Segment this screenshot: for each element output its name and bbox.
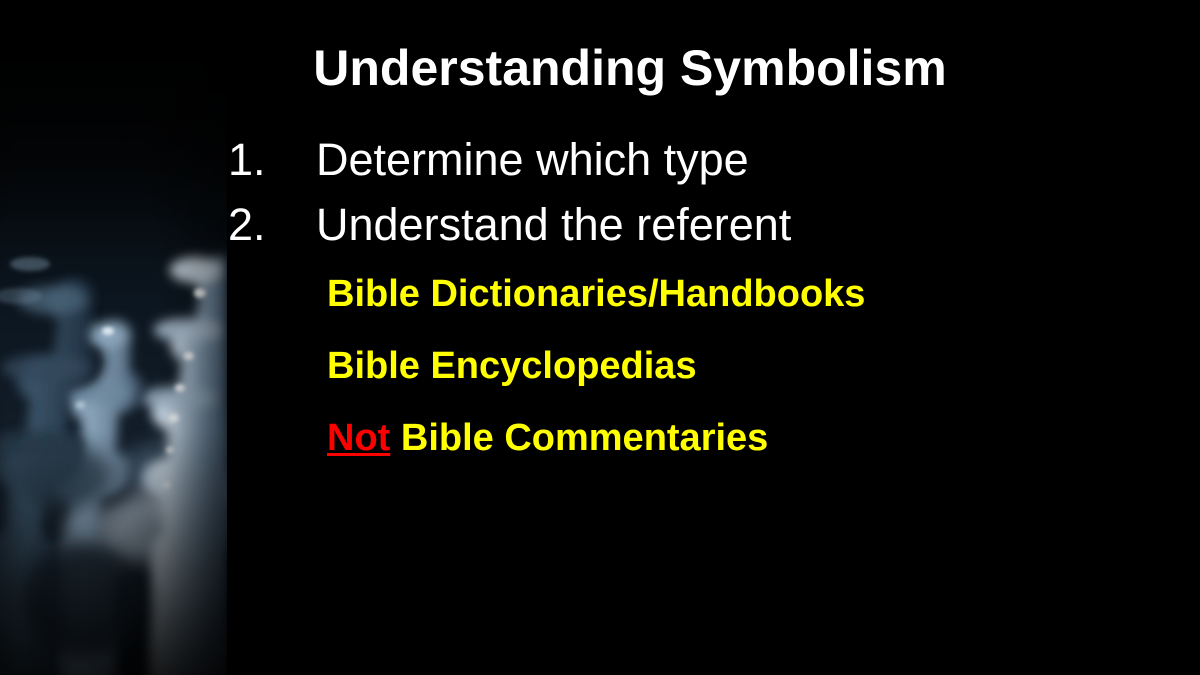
sub-list-item-text: Bible Dictionaries/Handbooks [327, 273, 865, 315]
numbered-list-text: Understand the referent [316, 193, 791, 258]
sub-list-item-commentaries: Not Bible Commentaries [327, 419, 1157, 457]
numbered-list-text: Determine which type [316, 128, 749, 193]
chess-pieces-photo [0, 0, 227, 675]
numbered-list-marker: 2. [228, 193, 316, 258]
numbered-list-marker: 1. [228, 128, 316, 193]
sub-list-item-encyclopedias: Bible Encyclopedias [327, 347, 1157, 385]
negation-emphasis: Not [327, 417, 390, 459]
sub-list-item-dictionaries: Bible Dictionaries/Handbooks [327, 275, 1157, 313]
sub-list-item-text: Bible Encyclopedias [327, 345, 697, 387]
sub-list-item-text: Bible Commentaries [390, 417, 768, 459]
numbered-list: 1. Determine which type 2. Understand th… [228, 128, 1128, 258]
numbered-list-item-2: 2. Understand the referent [228, 193, 1128, 258]
chess-pieces-photo-graphic [0, 0, 227, 675]
numbered-list-item-1: 1. Determine which type [228, 128, 1128, 193]
resource-sub-list: Bible Dictionaries/Handbooks Bible Encyc… [327, 275, 1157, 457]
slide-canvas: Understanding Symbolism 1. Determine whi… [0, 0, 1200, 675]
slide-title: Understanding Symbolism [200, 42, 1060, 95]
